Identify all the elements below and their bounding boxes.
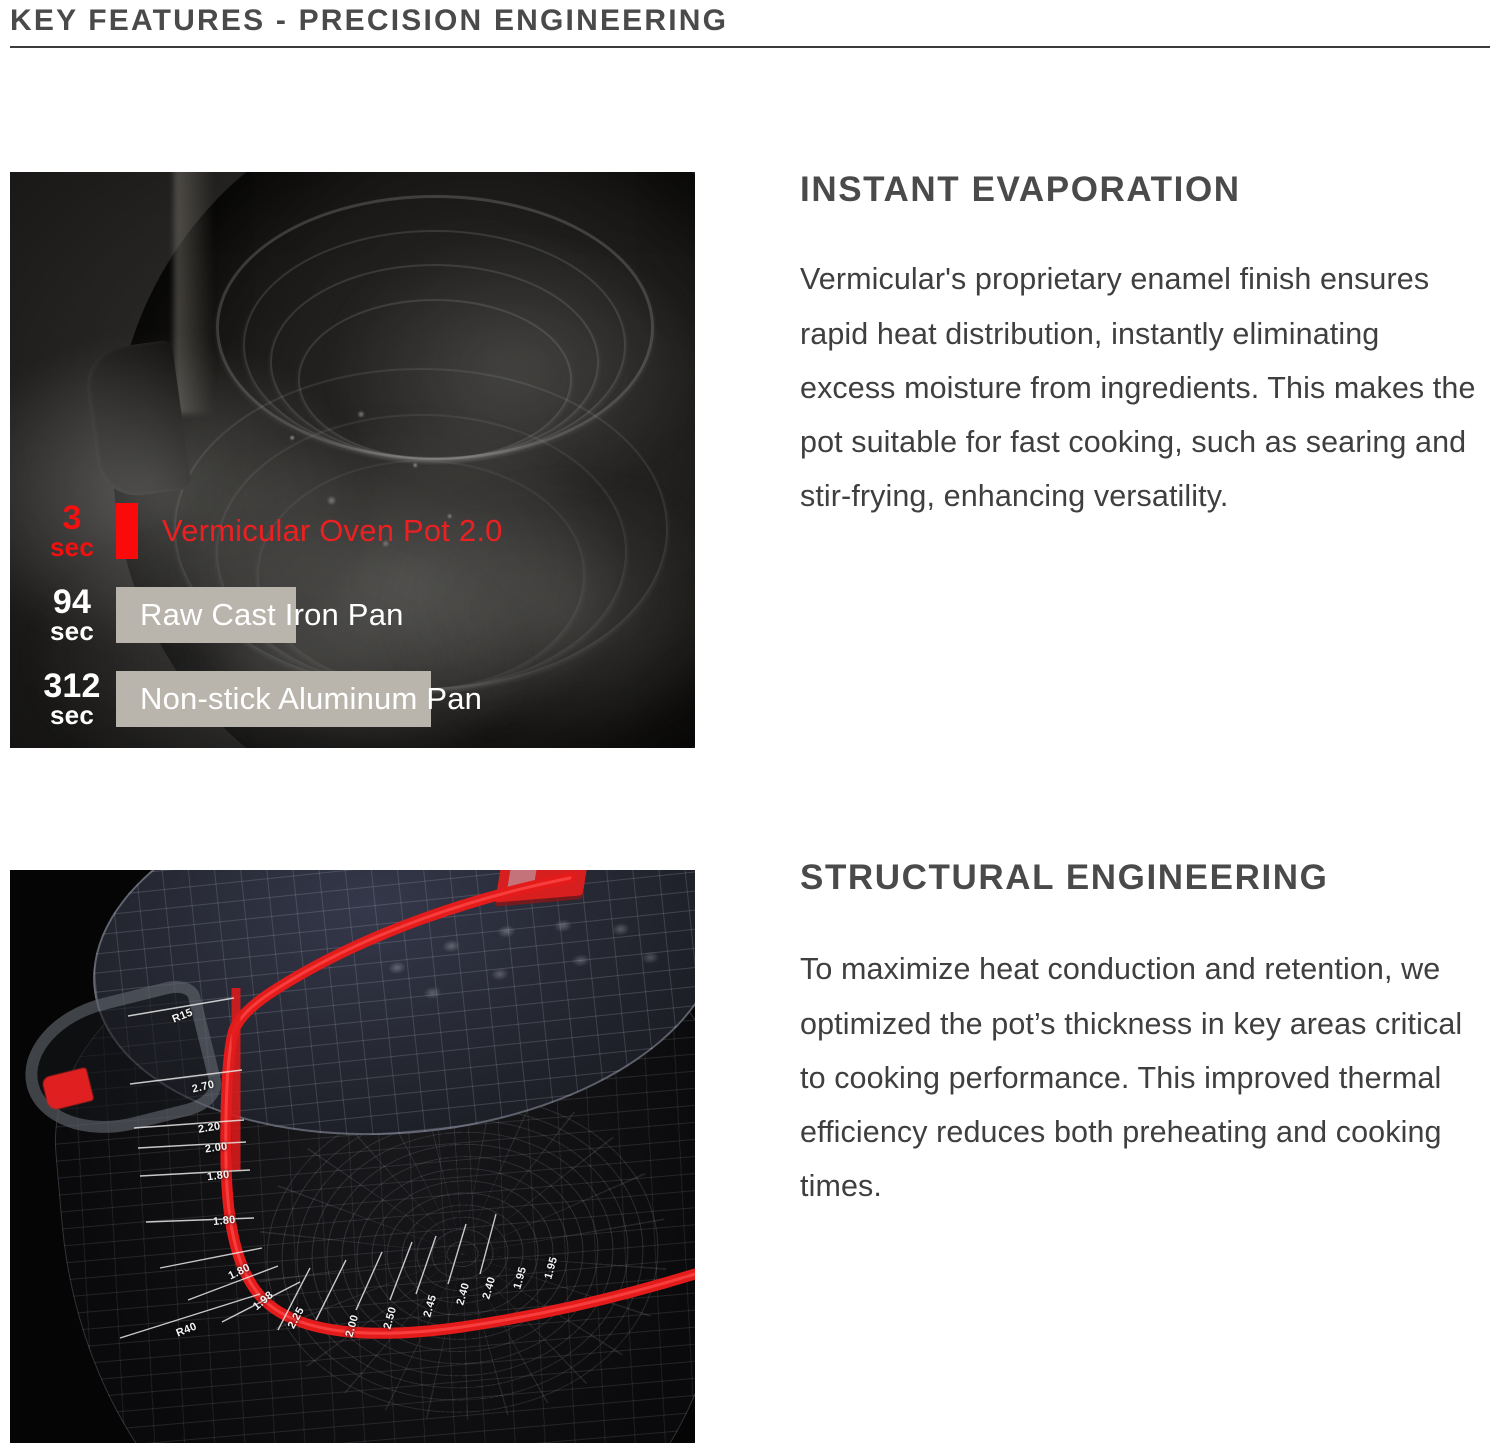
bar-value: 3 sec [30,502,114,561]
copy-structural-engineering: STRUCTURAL ENGINEERING To maximize heat … [800,858,1500,1214]
chart-row: 94 sec Raw Cast Iron Pan [30,583,296,647]
figure-instant-evaporation: 3 sec Vermicular Oven Pot 2.0 94 sec Raw… [10,172,695,748]
bar-value-number: 312 [30,670,114,703]
section-title-instant-evaporation: INSTANT EVAPORATION [800,170,1490,210]
bar-value-unit: sec [30,619,114,644]
chart-row: 3 sec Vermicular Oven Pot 2.0 [30,499,138,563]
section-body-instant-evaporation: Vermicular's proprietary enamel finish e… [800,252,1480,523]
bar-value: 94 sec [30,586,114,645]
bar-category-label: Non-stick Aluminum Pan [140,681,482,717]
figure-structural-engineering: 03.3 [10,870,695,1443]
bar-value: 312 sec [30,670,114,729]
chart-row: 312 sec Non-stick Aluminum Pan [30,667,431,731]
bar-category-label: Raw Cast Iron Pan [140,597,404,633]
cad-dimension-label: 1.80 [212,1214,236,1228]
page-header: KEY FEATURES - PRECISION ENGINEERING [10,2,1490,40]
bar-category-label: Vermicular Oven Pot 2.0 [162,513,503,549]
steam-plume [339,241,695,494]
bar-value-number: 3 [30,502,114,535]
bar-value-number: 94 [30,586,114,619]
page-root: KEY FEATURES - PRECISION ENGINEERING 3 s… [0,0,1500,1444]
header-divider [10,46,1490,48]
cad-wireframe [10,870,695,1443]
section-body-structural-engineering: To maximize heat conduction and retentio… [800,942,1480,1213]
bar-value-unit: sec [30,703,114,728]
page-title: KEY FEATURES - PRECISION ENGINEERING [10,2,1490,40]
evaporation-bar-chart: 3 sec Vermicular Oven Pot 2.0 94 sec Raw… [30,499,590,729]
bar-value-unit: sec [30,535,114,560]
section-title-structural-engineering: STRUCTURAL ENGINEERING [800,858,1500,898]
bar-rect [116,503,138,559]
copy-instant-evaporation: INSTANT EVAPORATION Vermicular's proprie… [800,170,1490,524]
